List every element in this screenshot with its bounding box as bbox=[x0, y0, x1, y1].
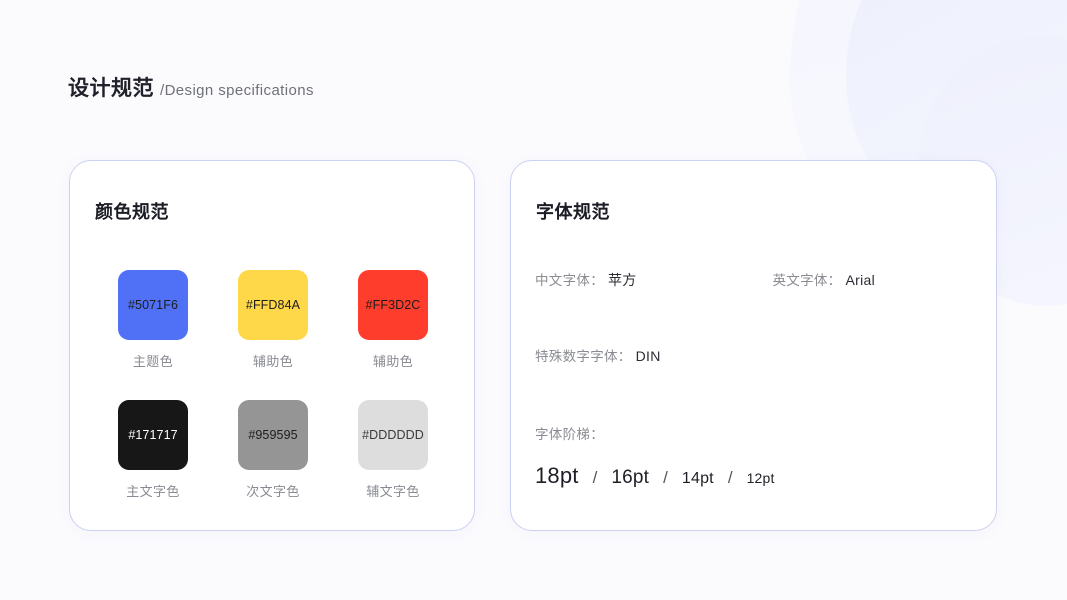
font-ladder-step: 14pt bbox=[682, 470, 714, 488]
color-swatch-chip[interactable]: #171717 bbox=[118, 400, 188, 470]
color-swatch[interactable]: #FFD84A辅助色 bbox=[213, 270, 333, 370]
font-ladder-separator: / bbox=[728, 468, 733, 488]
color-swatch-label: 主文字色 bbox=[126, 481, 180, 500]
font-spec-numeric-value: DIN bbox=[636, 348, 661, 364]
color-swatch[interactable]: #5071F6主题色 bbox=[93, 270, 213, 370]
color-swatch-chip[interactable]: #FF3D2C bbox=[358, 270, 428, 340]
font-spec-numeric: 特殊数字字体： DIN bbox=[535, 345, 661, 365]
color-swatch-chip[interactable]: #DDDDDD bbox=[358, 400, 428, 470]
font-ladder-step: 16pt bbox=[611, 467, 649, 489]
color-spec-card: 颜色规范 #5071F6主题色#FFD84A辅助色#FF3D2C辅助色#1717… bbox=[69, 160, 475, 531]
font-spec-row-primary: 中文字体： 苹方 英文字体： Arial bbox=[535, 269, 973, 345]
font-spec-rows: 中文字体： 苹方 英文字体： Arial 特殊数字字体： DIN bbox=[535, 269, 973, 421]
font-spec-english-value: Arial bbox=[845, 272, 875, 288]
color-swatch-chip[interactable]: #FFD84A bbox=[238, 270, 308, 340]
font-spec-chinese-label: 中文字体： bbox=[535, 269, 604, 289]
color-swatch[interactable]: #171717主文字色 bbox=[93, 400, 213, 500]
color-swatch[interactable]: #959595次文字色 bbox=[213, 400, 333, 500]
font-ladder-step: 12pt bbox=[747, 470, 775, 486]
font-spec-numeric-label: 特殊数字字体： bbox=[535, 345, 632, 365]
font-ladder-separator: / bbox=[663, 468, 668, 488]
color-swatch-grid: #5071F6主题色#FFD84A辅助色#FF3D2C辅助色#171717主文字… bbox=[93, 270, 453, 500]
color-swatch-label: 辅助色 bbox=[253, 351, 293, 370]
color-swatch-label: 辅文字色 bbox=[366, 481, 420, 500]
page-title-cn: 设计规范 bbox=[68, 72, 154, 102]
color-swatch-label: 辅助色 bbox=[373, 351, 413, 370]
color-swatch[interactable]: #FF3D2C辅助色 bbox=[333, 270, 453, 370]
color-swatch-label: 主题色 bbox=[133, 351, 173, 370]
font-spec-english: 英文字体： Arial bbox=[772, 269, 973, 289]
color-swatch-label: 次文字色 bbox=[246, 481, 300, 500]
font-ladder-separator: / bbox=[593, 468, 598, 488]
page-title-en: /Design specifications bbox=[160, 82, 314, 99]
font-ladder-steps: 18pt/16pt/14pt/12pt bbox=[535, 463, 973, 489]
color-card-title: 颜色规范 bbox=[95, 198, 169, 224]
color-swatch-chip[interactable]: #5071F6 bbox=[118, 270, 188, 340]
page-title: 设计规范 /Design specifications bbox=[68, 72, 314, 102]
font-spec-row-numeric: 特殊数字字体： DIN bbox=[535, 345, 973, 421]
font-ladder-label: 字体阶梯： bbox=[535, 423, 973, 443]
font-spec-english-label: 英文字体： bbox=[772, 269, 841, 289]
color-swatch-chip[interactable]: #959595 bbox=[238, 400, 308, 470]
font-card-title: 字体规范 bbox=[536, 198, 610, 224]
font-spec-chinese-value: 苹方 bbox=[608, 270, 637, 290]
font-spec-card: 字体规范 中文字体： 苹方 英文字体： Arial 特殊数字字体： DIN 字体… bbox=[510, 160, 997, 531]
color-swatch[interactable]: #DDDDDD辅文字色 bbox=[333, 400, 453, 500]
font-spec-chinese: 中文字体： 苹方 bbox=[535, 269, 637, 290]
font-ladder: 字体阶梯： 18pt/16pt/14pt/12pt bbox=[535, 423, 973, 489]
font-ladder-step: 18pt bbox=[535, 463, 579, 489]
